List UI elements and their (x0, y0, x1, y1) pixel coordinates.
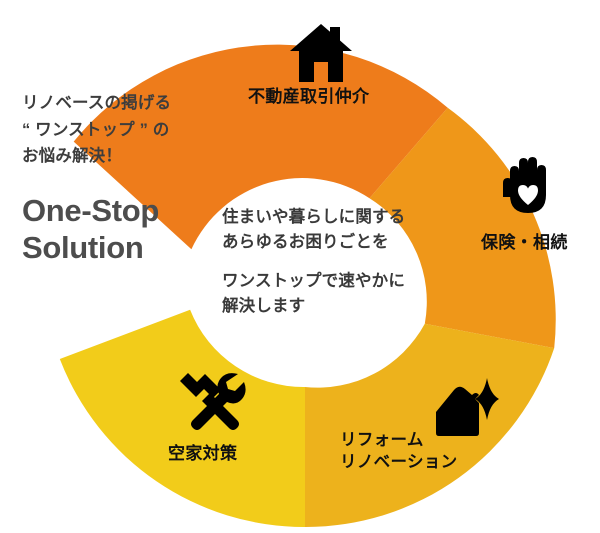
hand-heart-icon (497, 157, 561, 227)
segment-label-insurance: 保険・相続 (481, 232, 568, 254)
lead-copy: リノベースの掲げる “ ワンストップ ” の お悩み解決！ (22, 90, 222, 170)
page-title: One-Stop Solution (22, 192, 222, 266)
diagram-canvas: 不動産取引仲介 保険・相続 リフォーム リノベーション 空家対策 リノベースの掲… (0, 0, 600, 533)
segment-label-vacant-house: 空家対策 (168, 443, 237, 465)
left-text-block: リノベースの掲げる “ ワンストップ ” の お悩み解決！ One-Stop S… (22, 90, 222, 267)
center-copy-primary: 住まいや暮らしに関する あらゆるお困りごとを (222, 205, 437, 255)
center-copy-secondary: ワンストップで速やかに 解決します (222, 269, 437, 319)
sparkle-house-icon (432, 376, 500, 438)
center-text-block: 住まいや暮らしに関する あらゆるお困りごとを ワンストップで速やかに 解決します (222, 205, 437, 319)
donut-segment-reform[interactable] (305, 324, 554, 527)
segment-label-real-estate: 不動産取引仲介 (248, 86, 369, 108)
hammer-wrench-icon (175, 370, 249, 432)
house-icon (288, 24, 354, 82)
segment-label-reform: リフォーム リノベーション (340, 430, 457, 474)
